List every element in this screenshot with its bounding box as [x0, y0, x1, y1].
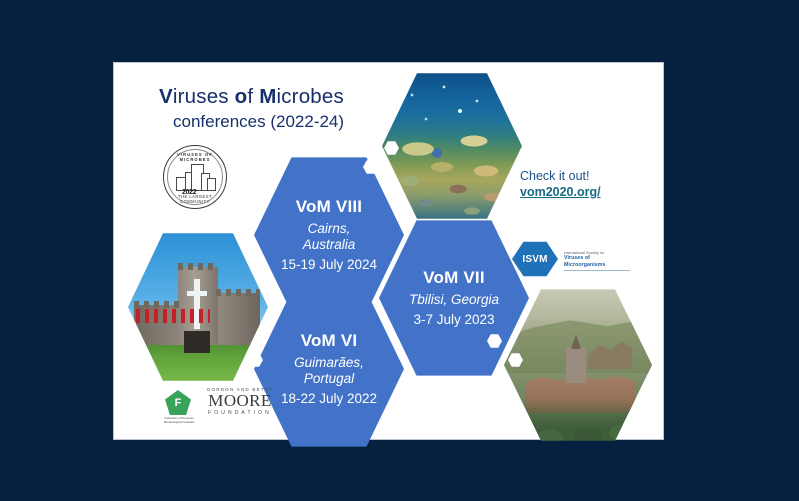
isvm-wordmark: International Society for Viruses of Mic… [564, 251, 630, 271]
moore-logo-bottom-line: FOUNDATION [204, 410, 276, 416]
castle-gate-shadow [184, 331, 210, 353]
hexagon-vom-viii[interactable]: VoM VIII Cairns, Australia 15-19 July 20… [254, 155, 404, 315]
hexagon-vom-vii-place-1: Tbilisi, Georgia [409, 292, 499, 308]
hexagon-vom-vi[interactable]: VoM VI Guimarães, Portugal 18-22 July 20… [254, 289, 404, 449]
hexagon-vom-vii-text: VoM VII Tbilisi, Georgia 3-7 July 2023 [379, 218, 529, 378]
castle-right-wall [216, 293, 260, 345]
castle-battlements-right [216, 289, 260, 296]
vom-seal-logo: VIRUSES OF MICROBES 2022 THE LARGEST COM… [163, 145, 227, 209]
hexagon-vom-vi-dates: 18-22 July 2022 [281, 391, 377, 407]
hexagon-vom-vi-place-1: Guimarães, [294, 355, 364, 371]
castle-battlements-keep [178, 263, 218, 270]
hexagon-vom-viii-place-1: Cairns, [308, 221, 351, 237]
hexagon-vom-viii-place-2: Australia [303, 237, 356, 253]
castle-red-flags [136, 309, 210, 323]
hexagon-vom-vii-dates: 3-7 July 2023 [413, 312, 494, 328]
castle-battlements-left [134, 301, 182, 308]
isvm-underline-rule [564, 270, 630, 271]
slide-canvas: Viruses of Microbes conferences (2022-24… [0, 0, 799, 501]
hexagon-vom-vii[interactable]: VoM VII Tbilisi, Georgia 3-7 July 2023 [379, 218, 529, 378]
seal-arc-top-text: VIRUSES OF MICROBES [163, 152, 227, 162]
isvm-logo: ISVM International Society for Viruses o… [512, 241, 630, 277]
seal-arc-bottom-text: THE LARGEST COMMUNITY [163, 194, 227, 204]
tbilisi-church [566, 347, 586, 383]
hexagon-vom-vi-title: VoM VI [301, 331, 358, 351]
tbilisi-trees [504, 399, 652, 443]
moore-logo-wordmark: MOORE [204, 392, 276, 409]
hexagon-vom-viii-text: VoM VIII Cairns, Australia 15-19 July 20… [254, 155, 404, 315]
hexagon-vom-viii-title: VoM VIII [296, 197, 362, 217]
moore-foundation-logo: GORDON AND BETTY MOORE FOUNDATION [204, 387, 276, 425]
isvm-line-2: Viruses of Microorganisms [564, 255, 630, 268]
fems-letter: F [165, 390, 191, 415]
hexagon-vom-vi-place-2: Portugal [304, 371, 354, 387]
hexagon-vom-vii-title: VoM VII [423, 268, 485, 288]
presentation-slide-card: Viruses of Microbes conferences (2022-24… [114, 63, 663, 439]
hexagon-vom-viii-dates: 15-19 July 2024 [281, 257, 377, 273]
callout-label: Check it out! [520, 169, 650, 183]
website-link[interactable]: vom2020.org/ [520, 185, 601, 199]
callout-check-it-out: Check it out! vom2020.org/ [520, 169, 650, 201]
fems-caption-line-2: Microbiological Societies [162, 420, 196, 424]
isvm-hexagon-badge: ISVM [512, 241, 558, 277]
photo-tbilisi-fortress [504, 287, 652, 443]
fems-logo: F Federation of European Microbiological… [162, 389, 196, 423]
fems-pentagon-mark: F [165, 390, 191, 415]
isvm-badge-label: ISVM [512, 241, 558, 277]
seal-castle-icon [176, 165, 214, 191]
fems-caption: Federation of European Microbiological S… [162, 416, 196, 424]
hexagon-vom-vi-text: VoM VI Guimarães, Portugal 18-22 July 20… [254, 289, 404, 449]
